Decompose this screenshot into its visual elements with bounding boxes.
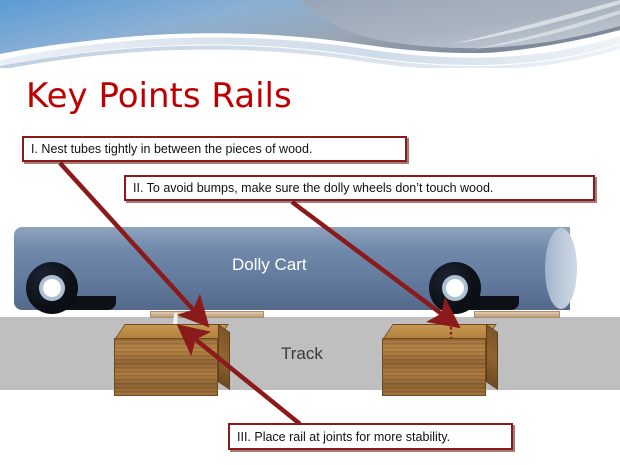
callout-2-text: II. To avoid bumps, make sure the dolly … [133,181,493,195]
slide-canvas: Key Points Rails Dolly Cart [0,0,620,465]
callout-1-text: I. Nest tubes tightly in between the pie… [31,142,312,156]
right-wood-block [382,324,498,396]
right-wood-block-front [382,338,486,396]
left-wood-block [114,324,230,396]
right-wood-block-side [486,324,498,390]
left-wood-block-side [218,324,230,390]
left-rail [150,311,264,318]
right-wheel [429,262,481,314]
left-wheel [26,262,78,314]
callout-box-3[interactable]: III. Place rail at joints for more stabi… [228,423,513,450]
callout-box-2[interactable]: II. To avoid bumps, make sure the dolly … [124,175,595,201]
right-wheel-hub [446,279,464,297]
rails-diagram: Dolly Cart Track [0,0,620,465]
callout-3-text: III. Place rail at joints for more stabi… [237,430,450,444]
track-label: Track [281,344,323,364]
left-wood-block-front [114,338,218,396]
left-wheel-hub [43,279,61,297]
dolly-cart-label: Dolly Cart [232,255,307,275]
callout-box-1[interactable]: I. Nest tubes tightly in between the pie… [22,136,407,162]
dolly-cart-end-cap [545,228,577,309]
right-rail [474,311,560,318]
